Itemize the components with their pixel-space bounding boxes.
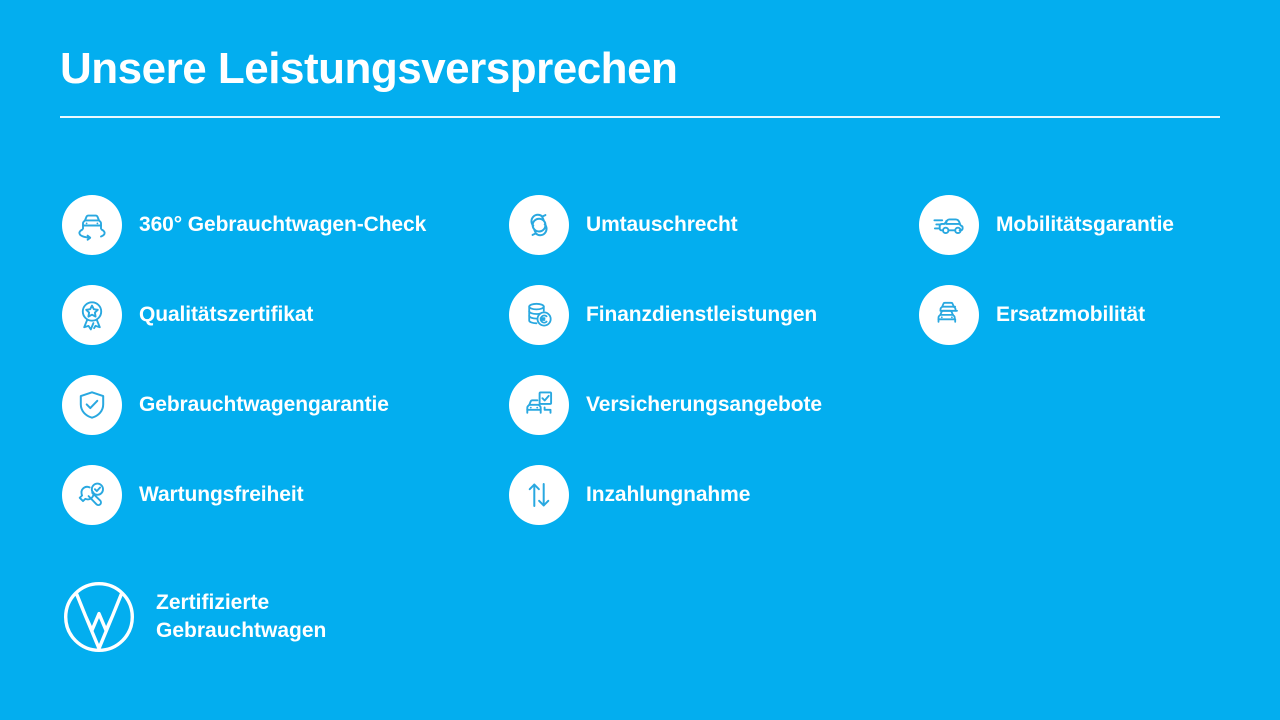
benefit-label: Umtauschrecht <box>586 213 738 237</box>
title-divider <box>60 116 1220 118</box>
brand-footer: Zertifizierte Gebrauchtwagen <box>62 580 326 654</box>
benefit-label: Ersatzmobilität <box>996 303 1145 327</box>
benefit-item-mobilitaetsgarantie[interactable]: Mobilitätsgarantie <box>919 180 1174 270</box>
benefit-label: Qualitätszertifikat <box>139 303 313 327</box>
car-motion-icon <box>919 195 979 255</box>
brand-text-line-1: Zertifizierte <box>156 589 326 617</box>
benefit-label: 360° Gebrauchtwagen-Check <box>139 213 426 237</box>
benefits-column-2: Umtauschrecht Finanzdienstleistungen <box>509 180 822 540</box>
benefit-label: Mobilitätsgarantie <box>996 213 1174 237</box>
exchange-arrows-icon <box>509 195 569 255</box>
coins-euro-icon <box>509 285 569 345</box>
two-cars-icon <box>919 285 979 345</box>
benefit-item-umtauschrecht[interactable]: Umtauschrecht <box>509 180 822 270</box>
page-header: Unsere Leistungsversprechen <box>60 46 1220 118</box>
benefit-item-finanzdienstleistungen[interactable]: Finanzdienstleistungen <box>509 270 822 360</box>
shield-check-icon <box>62 375 122 435</box>
benefit-item-gebrauchtwagengarantie[interactable]: Gebrauchtwagengarantie <box>62 360 426 450</box>
benefit-item-ersatzmobilitaet[interactable]: Ersatzmobilität <box>919 270 1174 360</box>
benefits-grid: 360° Gebrauchtwagen-Check Qualitätszerti… <box>0 180 1280 540</box>
car-360-check-icon <box>62 195 122 255</box>
award-rosette-icon <box>62 285 122 345</box>
benefits-column-1: 360° Gebrauchtwagen-Check Qualitätszerti… <box>62 180 426 540</box>
benefit-item-wartungsfreiheit[interactable]: Wartungsfreiheit <box>62 450 426 540</box>
benefit-label: Versicherungsangebote <box>586 393 822 417</box>
wrench-check-icon <box>62 465 122 525</box>
volkswagen-logo <box>62 580 136 654</box>
benefit-item-versicherungsangebote[interactable]: Versicherungsangebote <box>509 360 822 450</box>
benefit-item-qualitaetszertifikat[interactable]: Qualitätszertifikat <box>62 270 426 360</box>
benefit-label: Inzahlungnahme <box>586 483 750 507</box>
benefit-label: Finanzdienstleistungen <box>586 303 817 327</box>
page-title: Unsere Leistungsversprechen <box>60 46 1220 92</box>
brand-text-line-2: Gebrauchtwagen <box>156 617 326 645</box>
benefit-label: Gebrauchtwagengarantie <box>139 393 389 417</box>
benefit-label: Wartungsfreiheit <box>139 483 303 507</box>
benefit-item-inzahlungnahme[interactable]: Inzahlungnahme <box>509 450 822 540</box>
benefit-item-360-gebrauchtwagen-check[interactable]: 360° Gebrauchtwagen-Check <box>62 180 426 270</box>
benefits-column-3: Mobilitätsgarantie Ersatzmobilität <box>919 180 1174 360</box>
brand-text: Zertifizierte Gebrauchtwagen <box>156 589 326 644</box>
up-down-arrows-icon <box>509 465 569 525</box>
car-checkbox-icon <box>509 375 569 435</box>
